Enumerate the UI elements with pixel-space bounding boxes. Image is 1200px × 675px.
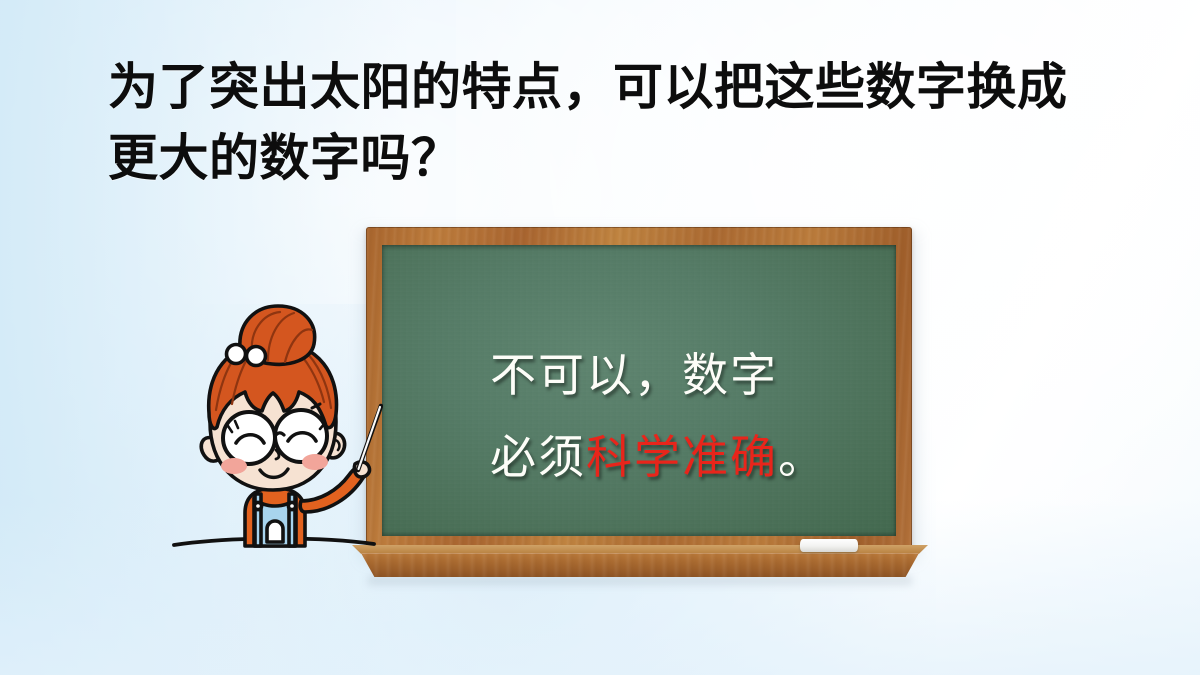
- blackboard: 不可以，数字 必须科学准确。: [366, 227, 912, 552]
- blackboard-text: 不可以，数字 必须科学准确。: [382, 335, 896, 499]
- chalk-tray-shadow: [368, 576, 912, 585]
- blackboard-line-2-prefix: 必须: [490, 430, 586, 484]
- page-title: 为了突出太阳的特点，可以把这些数字换成更大的数字吗？: [108, 52, 1108, 194]
- blackboard-line-1: 不可以，数字: [490, 335, 896, 417]
- chalk-icon: [800, 539, 858, 552]
- blackboard-line-2-highlight: 科学准确: [586, 430, 778, 484]
- slide-canvas: 为了突出太阳的特点，可以把这些数字换成更大的数字吗？ 不可以，数字 必须科学准确…: [0, 0, 1200, 675]
- blackboard-line-2: 必须科学准确。: [490, 417, 896, 499]
- cartoon-teacher-illustration: [168, 298, 383, 563]
- blackboard-surface: 不可以，数字 必须科学准确。: [382, 245, 896, 536]
- chalk-tray-face: [361, 553, 919, 577]
- blackboard-line-2-suffix: 。: [778, 430, 826, 484]
- chalk-tray-grain: [361, 553, 919, 577]
